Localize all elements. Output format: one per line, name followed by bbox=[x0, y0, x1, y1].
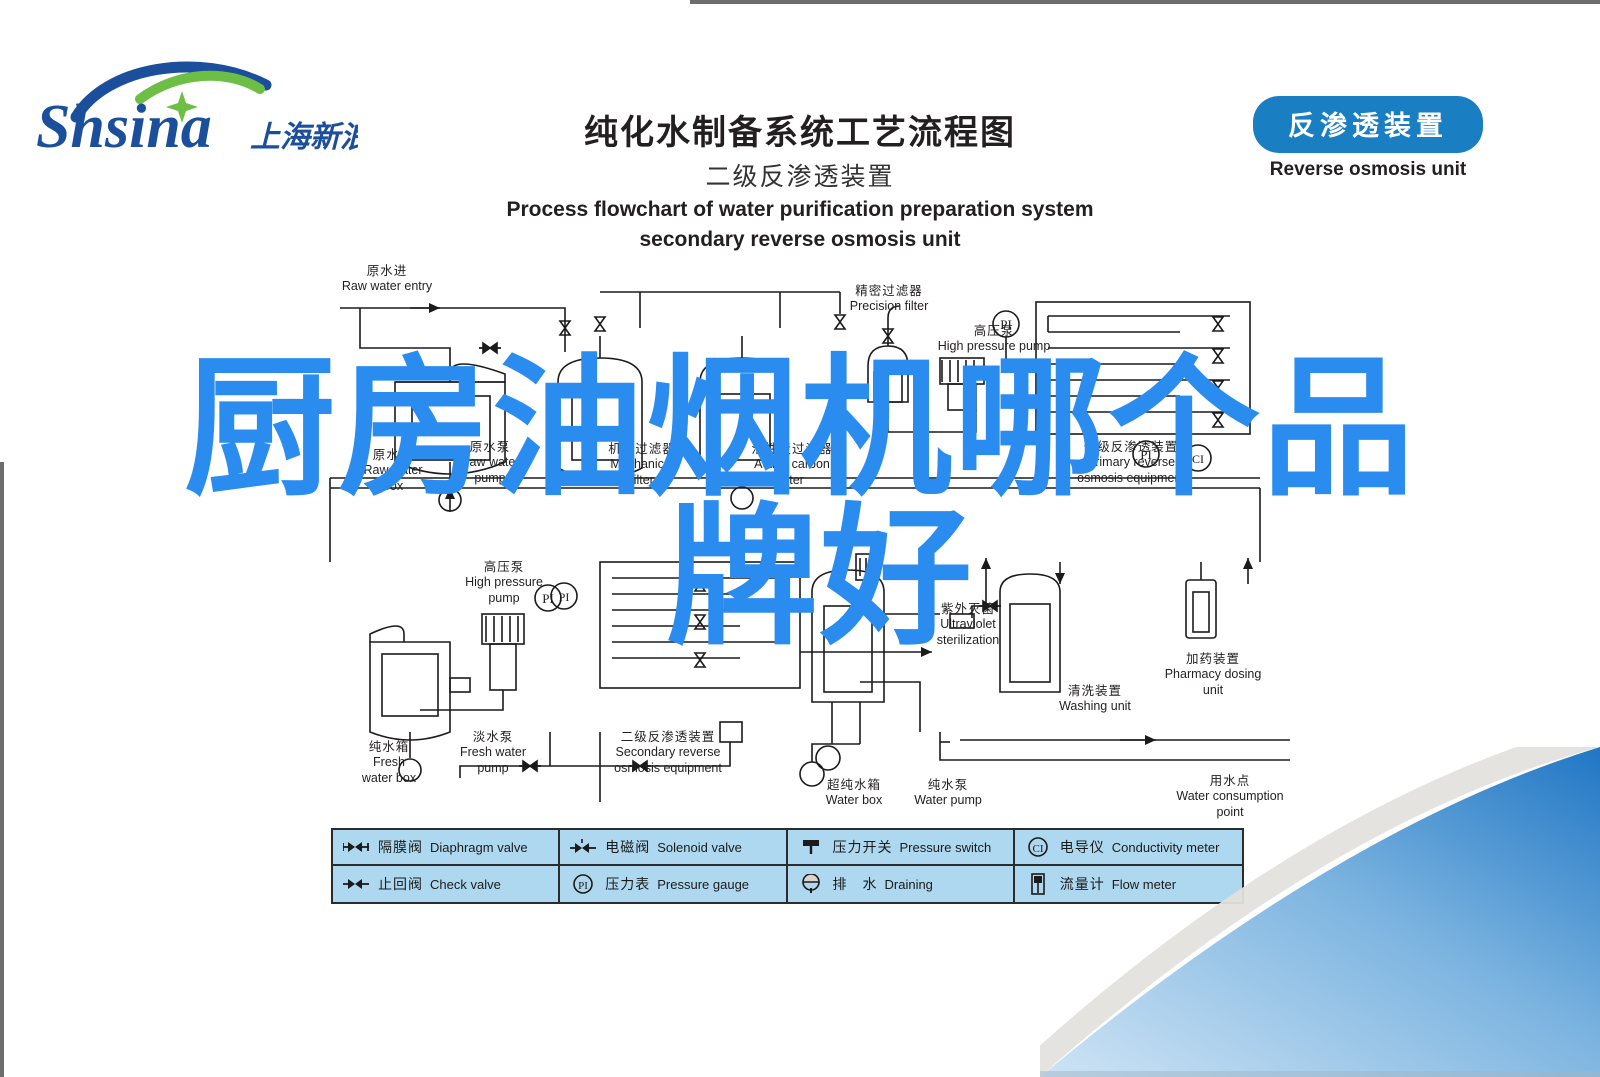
legend-label-cn: 压力表 bbox=[605, 874, 650, 894]
diagram-label-en: Active carbon filter bbox=[732, 457, 852, 488]
diagram-label-ultraviolet: 紫外灭菌Ultraviolet sterilization bbox=[912, 602, 1024, 648]
svg-text:Shsina: Shsina bbox=[36, 93, 212, 160]
diagram-label-cn: 二级反渗透装置 bbox=[588, 730, 748, 745]
badge-label-en: Reverse osmosis unit bbox=[1253, 159, 1483, 181]
legend-item-check-valve: 止回阀Check valve bbox=[333, 866, 560, 902]
diagram-label-en: Washing unit bbox=[1040, 699, 1150, 714]
diagram-label-cn: 原水泵 bbox=[440, 440, 540, 455]
frame-top-border bbox=[690, 0, 1600, 4]
diagram-label-fresh-water-pump: 淡水泵Fresh water pump bbox=[438, 730, 548, 776]
diagram-label-high-pressure-pump-2: 高压泵High pressure pump bbox=[448, 560, 560, 606]
diagram-label-raw-water-pump: 原水泵Raw water pump bbox=[440, 440, 540, 486]
diagram-label-cn: 原水进 bbox=[312, 264, 462, 279]
diagram-label-en: Secondary reverse osmosis equipment bbox=[588, 745, 748, 776]
diagram-label-cn: 高压泵 bbox=[448, 560, 560, 575]
diagram-label-active-carbon: 活性炭过滤器Active carbon filter bbox=[732, 442, 852, 488]
legend-item-solenoid-valve: 电磁阀Solenoid valve bbox=[560, 830, 787, 866]
diagram-label-cn: 纯水箱 bbox=[344, 740, 434, 755]
diagram-label-cn: 超纯水箱 bbox=[806, 778, 902, 793]
legend-item-pressure-switch: 压力开关Pressure switch bbox=[788, 830, 1015, 866]
solenoid-valve-icon bbox=[568, 839, 598, 855]
diagram-label-primary-ro: 一级反渗透装置Primary reverse osmosis equipment bbox=[1056, 440, 1206, 486]
shsina-logo: Shsina 上海新浪 bbox=[28, 55, 358, 160]
diagram-label-en: High pressure pump bbox=[920, 339, 1068, 354]
title-block: 纯化水制备系统工艺流程图 二级反渗透装置 Process flowchart o… bbox=[380, 112, 1220, 256]
legend-label-cn: 电磁阀 bbox=[605, 837, 650, 857]
legend-label-en: Pressure gauge bbox=[657, 877, 749, 892]
diagram-label-en: Fresh water pump bbox=[438, 745, 548, 776]
legend-label-cn: 排 水 bbox=[833, 874, 878, 894]
legend-item-draining: 排 水Draining bbox=[788, 866, 1015, 902]
diagram-label-cn: 活性炭过滤器 bbox=[732, 442, 852, 457]
check-valve-icon bbox=[341, 877, 371, 891]
page-title-cn: 纯化水制备系统工艺流程图 bbox=[380, 112, 1220, 155]
frame-left-border bbox=[0, 462, 4, 1077]
diagram-label-en: Water box bbox=[806, 793, 902, 808]
diagram-label-washing-unit: 清洗装置Washing unit bbox=[1040, 684, 1150, 715]
diagram-label-pharmacy-dosing: 加药装置Pharmacy dosing unit bbox=[1148, 652, 1278, 698]
diagram-label-ultrapure-box: 超纯水箱Water box bbox=[806, 778, 902, 809]
legend-item-diaphragm-valve: 隔膜阀Diaphragm valve bbox=[333, 830, 560, 866]
diagram-label-en: Raw water entry bbox=[312, 279, 462, 294]
svg-text:PI: PI bbox=[578, 880, 588, 892]
diagram-label-cn: 一级反渗透装置 bbox=[1056, 440, 1206, 455]
diagram-label-en: Mechanical filter bbox=[588, 457, 696, 488]
diagram-label-precision-filter: 精密过滤器Precision filter bbox=[828, 284, 950, 315]
diagram-label-cn: 淡水泵 bbox=[438, 730, 548, 745]
diagram-label-cn: 高压泵 bbox=[920, 324, 1068, 339]
decorative-swoosh bbox=[1040, 747, 1600, 1077]
diagram-label-en: Raw water pump bbox=[440, 455, 540, 486]
diagram-label-en: Pharmacy dosing unit bbox=[1148, 667, 1278, 698]
legend-label-cn: 隔膜阀 bbox=[378, 837, 423, 857]
diagram-label-en: Precision filter bbox=[828, 299, 950, 314]
diagram-label-high-pressure-pump-1: 高压泵High pressure pump bbox=[920, 324, 1068, 355]
diagram-label-cn: 原水箱 bbox=[348, 448, 438, 463]
diagram-label-en: Ultraviolet sterilization bbox=[912, 617, 1024, 648]
draining-icon bbox=[796, 874, 826, 894]
diagram-label-cn: 清洗装置 bbox=[1040, 684, 1150, 699]
legend-label-en: Solenoid valve bbox=[657, 840, 742, 855]
legend-label-en: Draining bbox=[885, 877, 933, 892]
diagram-label-raw-water-entry: 原水进Raw water entry bbox=[312, 264, 462, 295]
diagram-label-cn: 精密过滤器 bbox=[828, 284, 950, 299]
diagram-label-secondary-ro: 二级反渗透装置Secondary reverse osmosis equipme… bbox=[588, 730, 748, 776]
pressure-gauge-icon: PI bbox=[568, 873, 598, 895]
page-root: Shsina 上海新浪 纯化水制备系统工艺流程图 二级反渗透装置 Process… bbox=[0, 0, 1600, 1077]
pressure-switch-icon bbox=[796, 838, 826, 856]
legend-label-en: Diaphragm valve bbox=[430, 840, 528, 855]
diagram-label-en: Raw water box bbox=[348, 463, 438, 494]
diagram-label-en: Water pump bbox=[900, 793, 996, 808]
page-title-en-line1: Process flowchart of water purification … bbox=[380, 195, 1220, 225]
legend-label-en: Pressure switch bbox=[900, 840, 992, 855]
badge-label-cn: 反渗透装置 bbox=[1253, 96, 1483, 153]
diagram-label-en: High pressure pump bbox=[448, 575, 560, 606]
svg-text:上海新浪: 上海新浪 bbox=[250, 120, 358, 155]
diagram-label-raw-water-box: 原水箱Raw water box bbox=[348, 448, 438, 494]
reverse-osmosis-badge: 反渗透装置 Reverse osmosis unit bbox=[1253, 96, 1483, 181]
legend-label-cn: 止回阀 bbox=[378, 874, 423, 894]
diagram-label-cn: 紫外灭菌 bbox=[912, 602, 1024, 617]
svg-text:PI: PI bbox=[559, 590, 570, 604]
diagram-label-cn: 纯水泵 bbox=[900, 778, 996, 793]
diagram-label-mechanical-filter: 机械过滤器Mechanical filter bbox=[588, 442, 696, 488]
page-title-en-line2: secondary reverse osmosis unit bbox=[380, 225, 1220, 255]
legend-label-en: Check valve bbox=[430, 877, 501, 892]
diagram-label-en: Fresh water box bbox=[344, 755, 434, 786]
diagram-label-cn: 加药装置 bbox=[1148, 652, 1278, 667]
legend-item-pressure-gauge: PI压力表Pressure gauge bbox=[560, 866, 787, 902]
legend-label-cn: 压力开关 bbox=[833, 837, 893, 857]
diagram-label-fresh-water-box: 纯水箱Fresh water box bbox=[344, 740, 434, 786]
page-subtitle-cn: 二级反渗透装置 bbox=[380, 159, 1220, 195]
diagram-label-en: Primary reverse osmosis equipment bbox=[1056, 455, 1206, 486]
diagram-label-water-pump: 纯水泵Water pump bbox=[900, 778, 996, 809]
diagram-label-cn: 机械过滤器 bbox=[588, 442, 696, 457]
diaphragm-valve-icon bbox=[341, 840, 371, 854]
